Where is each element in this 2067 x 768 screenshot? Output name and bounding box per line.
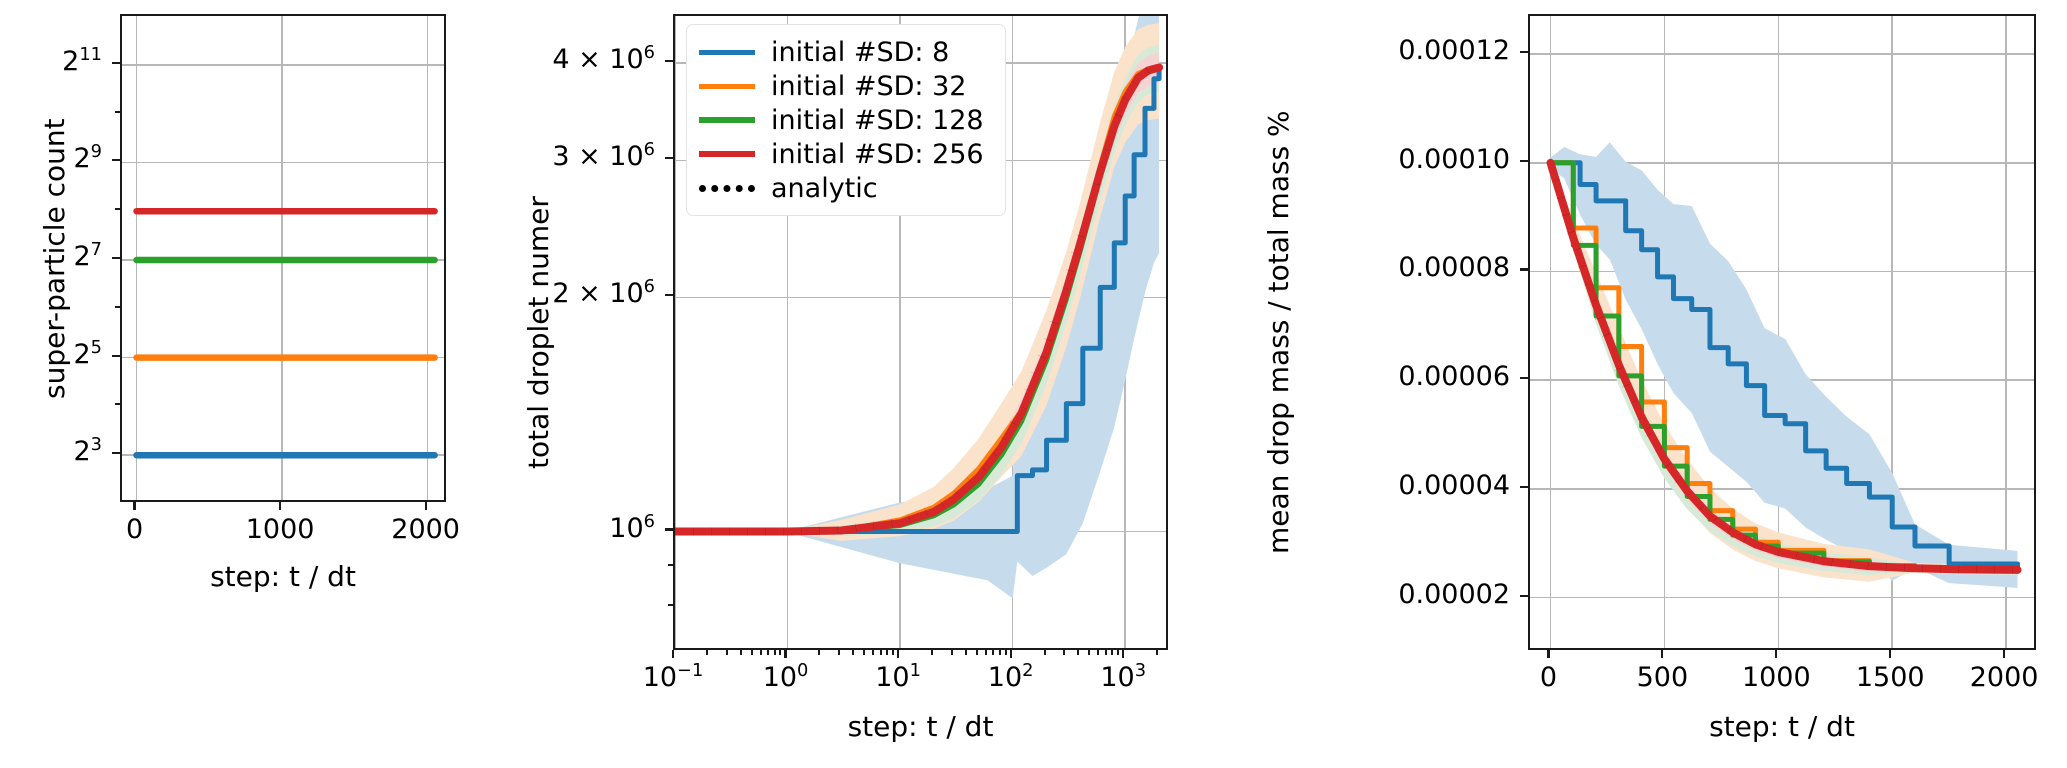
legend-label: initial #SD: 128 — [771, 105, 984, 136]
panel-super-particle-count: 01000200023252729211 step: t / dt super-… — [0, 0, 500, 768]
panel-mean-drop-mass: 05001000150020000.000020.000040.000060.0… — [1240, 0, 2067, 768]
panel3-plot-area — [1528, 14, 2036, 650]
legend-item[interactable]: initial #SD: 128 — [699, 103, 989, 137]
panel3-xlabel: step: t / dt — [1528, 710, 2036, 743]
ytick-label: 0.00012 — [1270, 37, 1510, 64]
legend-label: analytic — [771, 173, 878, 204]
ytick-label: 0.00004 — [1270, 472, 1510, 499]
legend-label: initial #SD: 32 — [771, 71, 966, 102]
ytick-label: 0.00008 — [1270, 254, 1510, 281]
panel1-series — [122, 16, 446, 502]
ytick-label: 4 × 106 — [415, 46, 655, 73]
legend-item[interactable]: analytic — [699, 171, 989, 205]
legend-swatch-line — [699, 151, 755, 157]
panel3-series — [1530, 16, 2036, 650]
panel2-ylabel: total droplet numer — [522, 196, 555, 469]
legend-swatch-line — [699, 84, 755, 89]
legend-item[interactable]: initial #SD: 8 — [699, 35, 989, 69]
ytick-label: 211 — [0, 48, 102, 75]
ytick-label: 0.00002 — [1270, 581, 1510, 608]
legend-item[interactable]: initial #SD: 256 — [699, 137, 989, 171]
panel1-ylabel: super-particle count — [38, 118, 71, 399]
legend-swatch-analytic — [699, 185, 755, 192]
ytick-label: 0.00010 — [1270, 146, 1510, 173]
panel1-plot-area — [120, 14, 446, 502]
panel2-xlabel: step: t / dt — [673, 710, 1168, 743]
xtick-label: 2000 — [1924, 664, 2067, 691]
legend-item[interactable]: initial #SD: 32 — [699, 69, 989, 103]
legend-label: initial #SD: 256 — [771, 139, 984, 170]
legend-swatch-line — [699, 50, 755, 55]
panel-total-droplet-number: 10−11001011021031062 × 1063 × 1064 × 106… — [500, 0, 1240, 768]
xtick-label: 1000 — [200, 516, 360, 543]
legend-label: initial #SD: 8 — [771, 37, 949, 68]
figure-canvas: 01000200023252729211 step: t / dt super-… — [0, 0, 2067, 768]
xtick-label: 0 — [55, 516, 215, 543]
ytick-label: 23 — [0, 438, 102, 465]
ytick-label: 0.00006 — [1270, 363, 1510, 390]
ytick-label: 3 × 106 — [415, 143, 655, 170]
xtick-label: 103 — [1043, 664, 1203, 691]
legend-swatch-line — [699, 117, 755, 123]
legend[interactable]: initial #SD: 8initial #SD: 32initial #SD… — [686, 24, 1006, 216]
ytick-label: 106 — [415, 515, 655, 542]
panel3-ylabel: mean drop mass / total mass % — [1262, 110, 1295, 554]
panel1-xlabel: step: t / dt — [120, 560, 446, 593]
